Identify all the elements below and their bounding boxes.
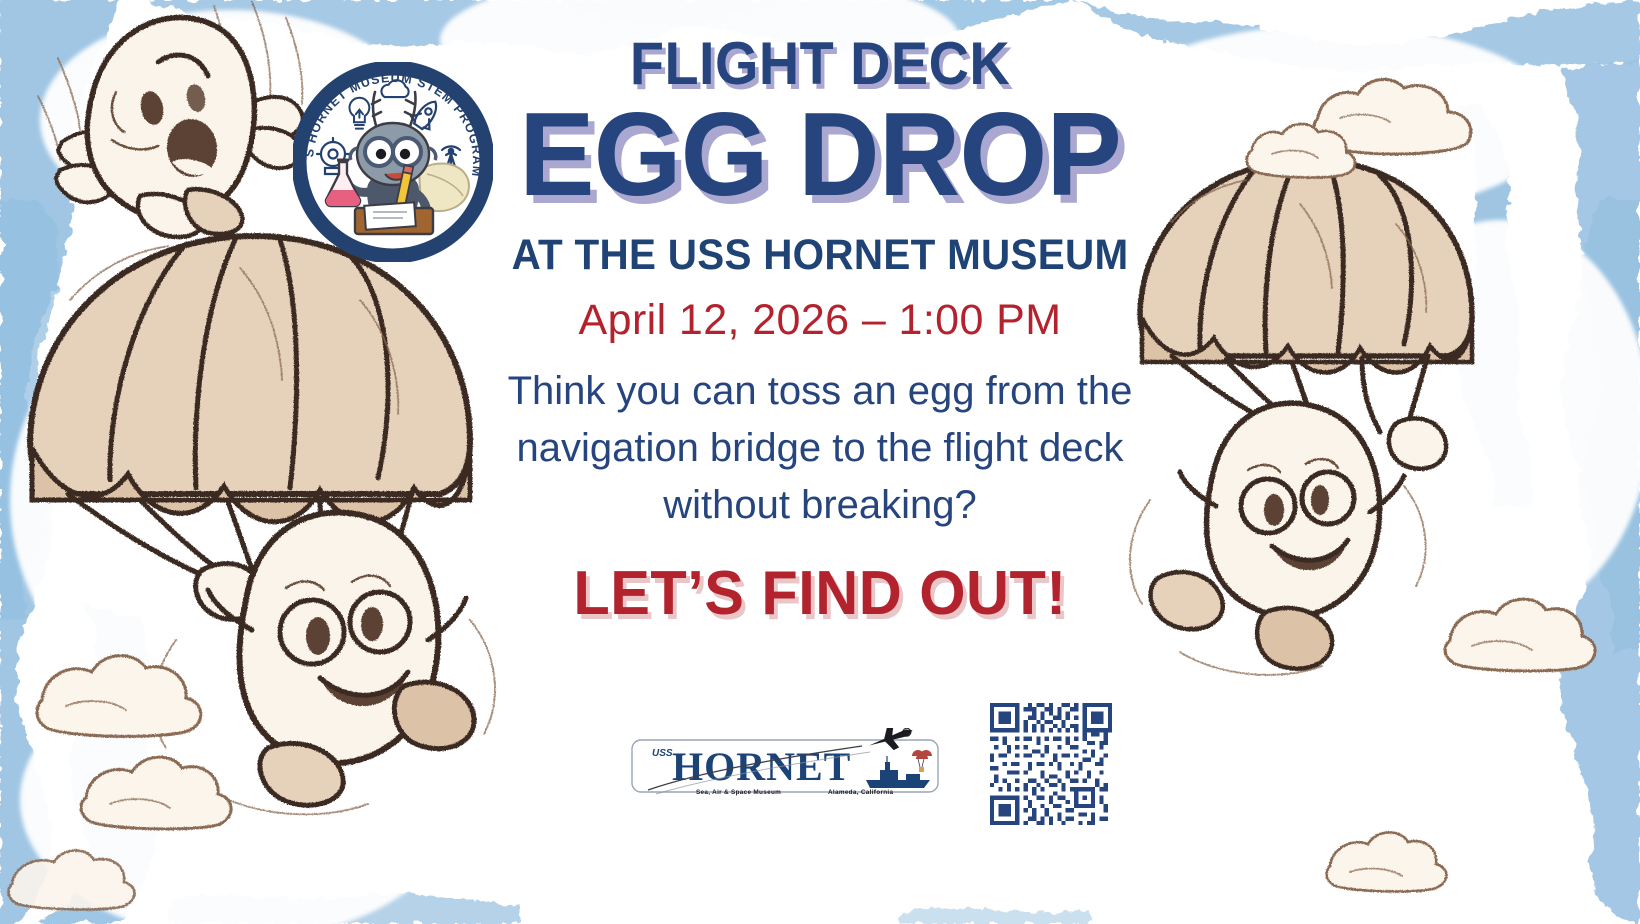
call-to-action-text: LET’S FIND OUT! xyxy=(484,558,1156,629)
poster-canvas: .ink { fill:none; stroke:#3a2a20; stroke… xyxy=(0,0,1640,924)
date-time-text: April 12, 2026 – 1:00 PM xyxy=(470,296,1170,345)
kicker-text: FLIGHT DECK xyxy=(495,34,1146,94)
poster-text-block: FLIGHT DECK EGG DROP AT THE USS HORNET M… xyxy=(470,34,1170,629)
stem-program-logo: USS HORNET MUSEUM STEM PROGRAM xyxy=(293,62,493,262)
logo-tagline-right: Alameda, California xyxy=(828,789,894,796)
uss-hornet-museum-logo: USS HORNET Sea, Air & Space Museum xyxy=(630,728,940,796)
logo-tagline-left: Sea, Air & Space Museum xyxy=(696,789,781,796)
clipboard-icon xyxy=(355,202,433,234)
logo-wordmark: HORNET xyxy=(672,744,851,789)
qr-code[interactable] xyxy=(990,703,1112,825)
venue-text: AT THE USS HORNET MUSEUM xyxy=(491,231,1149,280)
headline-text: EGG DROP xyxy=(488,100,1153,209)
logo-uss-prefix: USS xyxy=(652,748,673,759)
body-copy-text: Think you can toss an egg from the navig… xyxy=(470,363,1170,533)
